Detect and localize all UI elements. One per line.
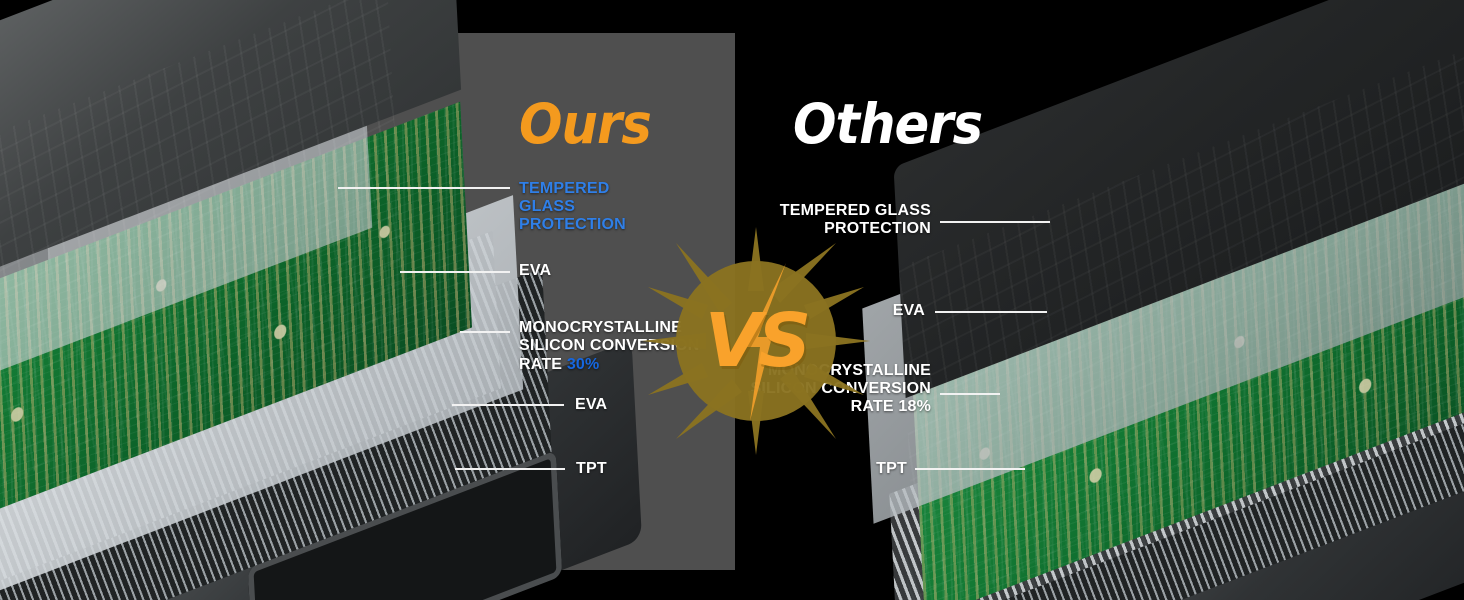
others-label-tpt: TPT [735, 460, 907, 478]
leader-line-mono-silicon [460, 331, 510, 333]
ours-label-tpt: TPT [576, 460, 607, 478]
leader-line-tpt [915, 468, 1025, 470]
ours-solar-panel-exploded-view [0, 0, 735, 600]
ours-label-tempered-glass: TEMPERED GLASS PROTECTION [519, 180, 626, 235]
leader-line-eva-bottom [452, 404, 564, 406]
leader-line-tpt [455, 468, 565, 470]
ours-panel: Ours TEMPERED GLASS PROTECTION EVA MONOC… [0, 0, 735, 600]
leader-line-tempered-glass [338, 187, 510, 189]
ours-heading: Ours [519, 92, 651, 156]
comparison-infographic: Ours TEMPERED GLASS PROTECTION EVA MONOC… [0, 0, 1464, 600]
others-heading: Others [793, 92, 982, 156]
ours-label-eva-top: EVA [519, 262, 551, 280]
leader-line-eva [935, 311, 1047, 313]
vs-label: VS [640, 225, 872, 457]
leader-line-mono-silicon [940, 393, 1000, 395]
leader-line-eva-top [400, 271, 510, 273]
leader-line-tempered-glass [940, 221, 1050, 223]
ours-label-eva-bottom: EVA [575, 396, 607, 414]
vs-badge: VS [640, 225, 872, 457]
ours-conversion-rate-value: 30% [567, 356, 600, 373]
